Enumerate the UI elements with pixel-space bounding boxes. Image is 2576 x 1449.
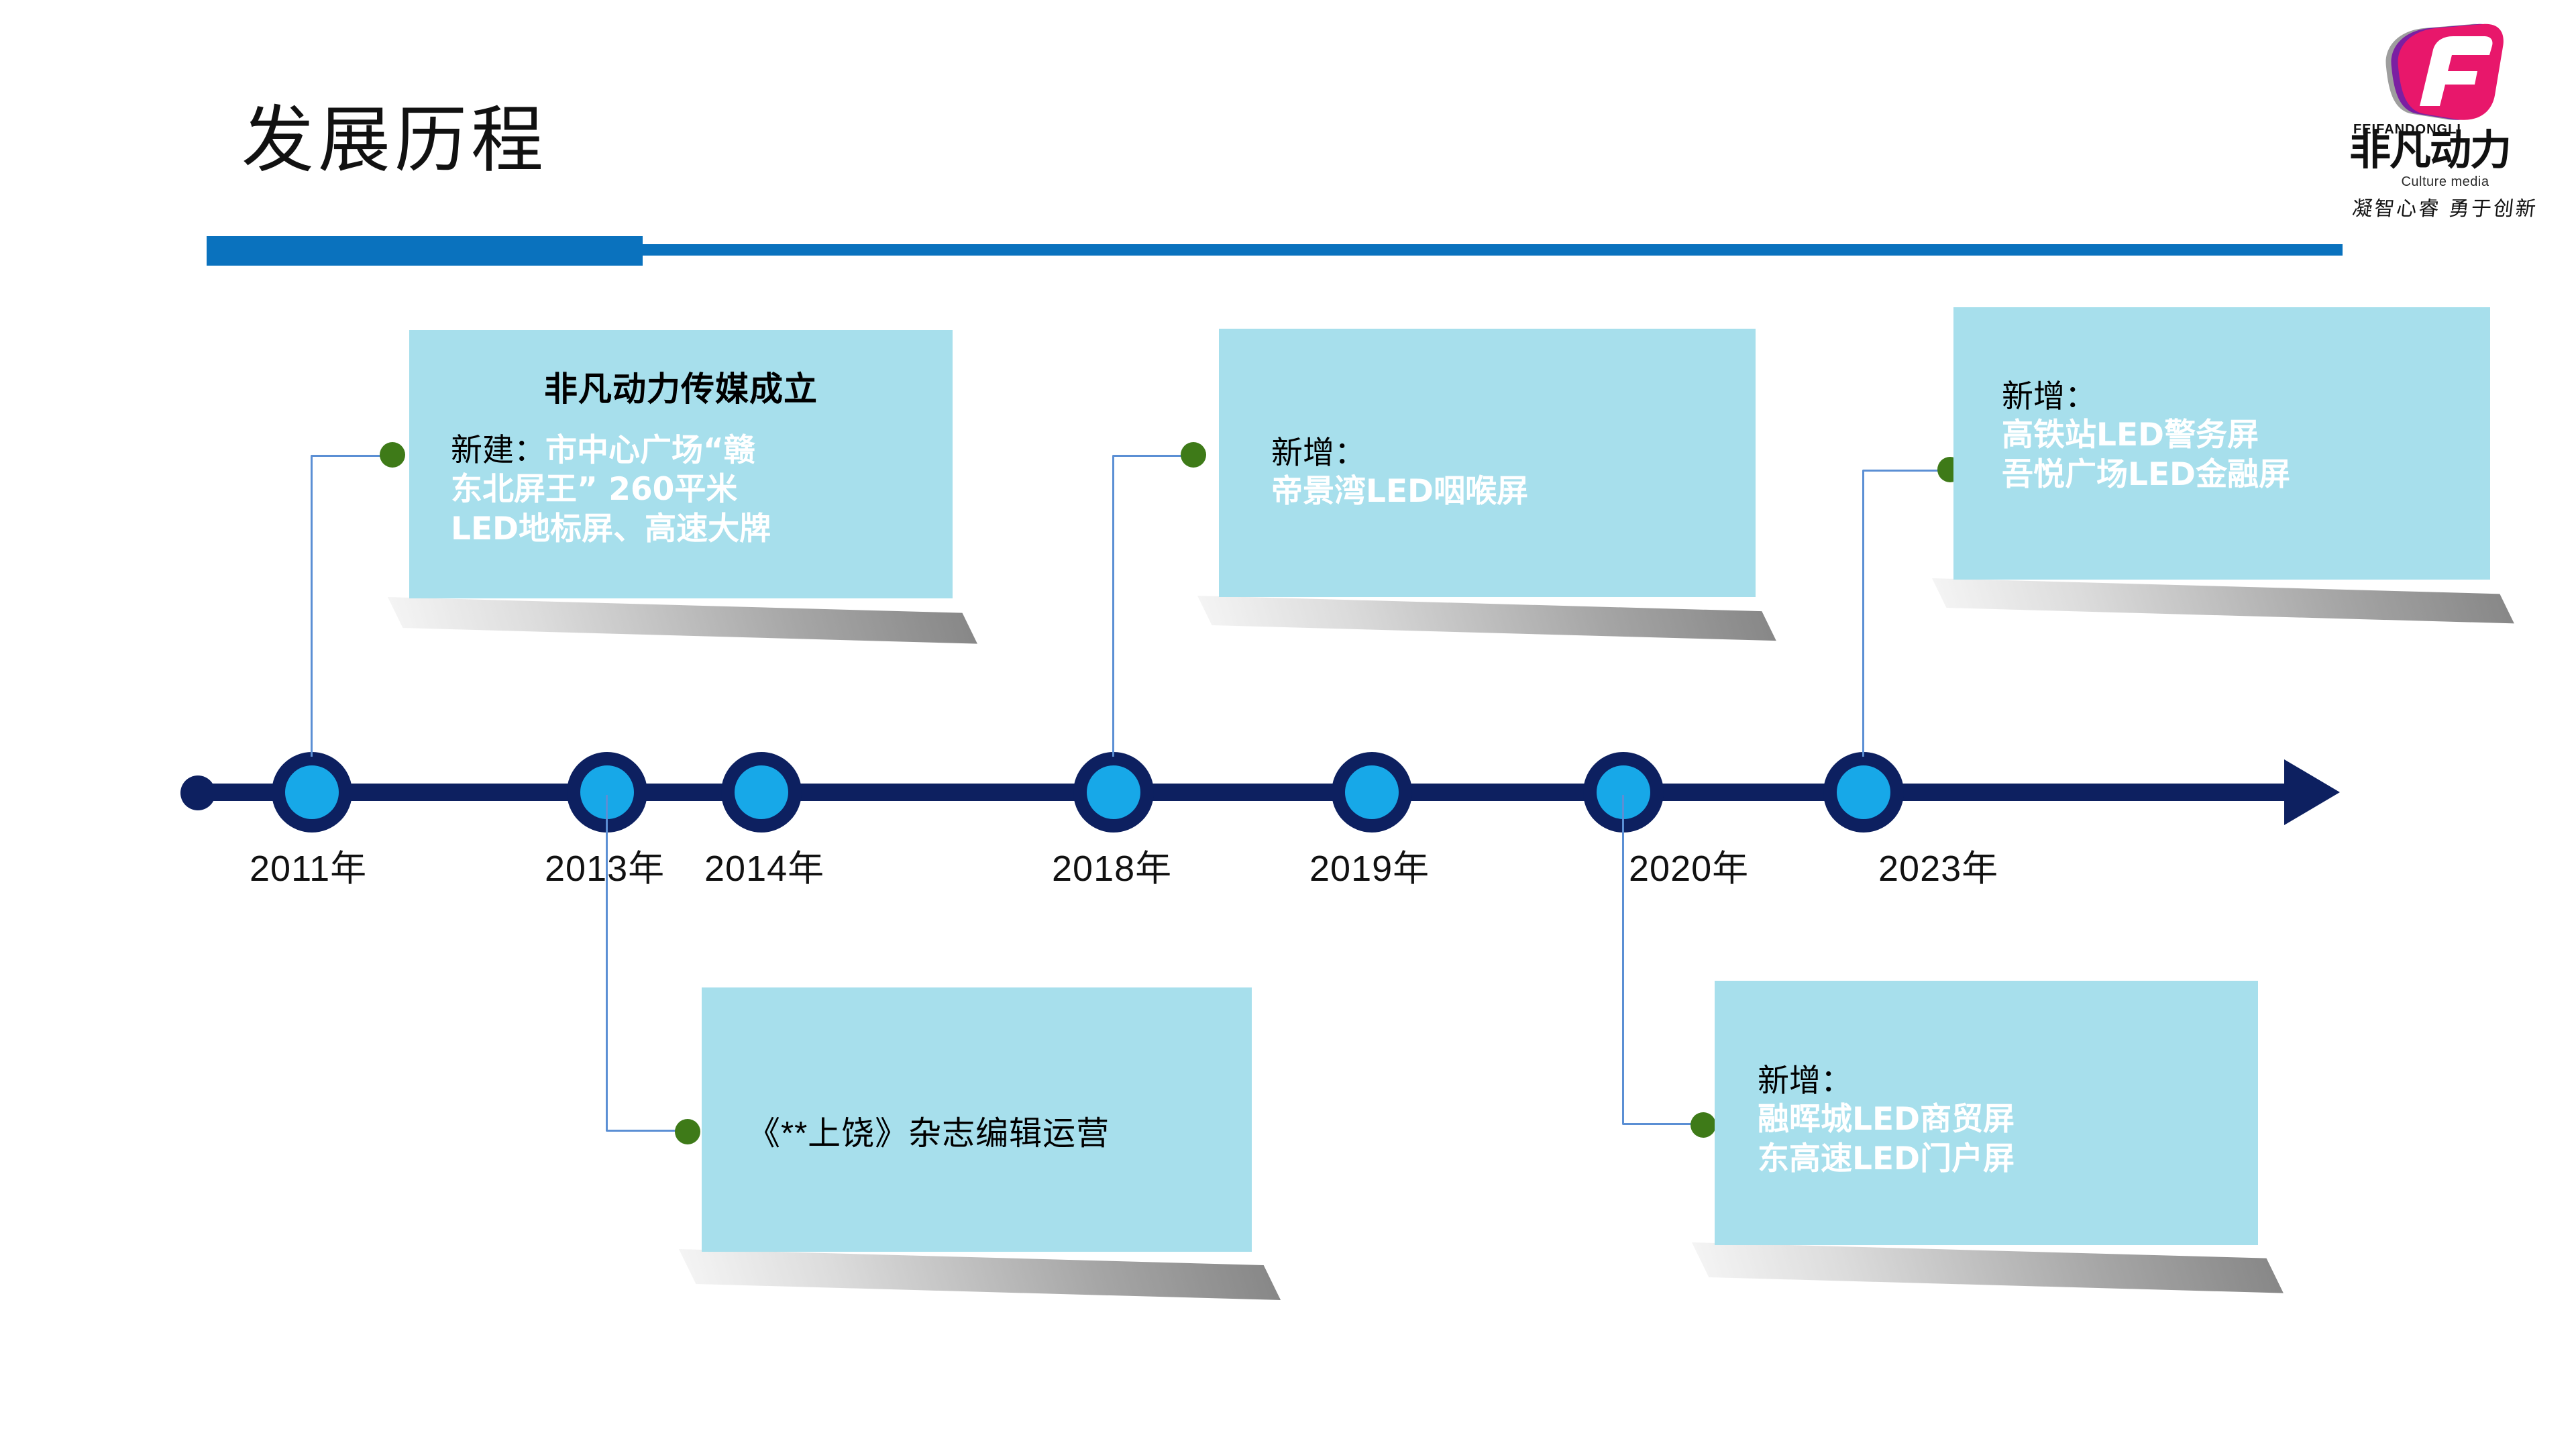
title-underline-thin — [643, 244, 2343, 256]
connector-dot-2011 — [380, 442, 405, 468]
connector-2020 — [1622, 795, 1703, 1125]
timeline-node-2014[interactable] — [721, 752, 802, 833]
connector-dot-2018 — [1181, 442, 1206, 468]
card-2023-label: 新增： — [2002, 378, 2096, 414]
slide-canvas: 发展历程 FEIFANDONGLI 非凡动力 Culture media 凝智心… — [0, 0, 2576, 1449]
card-2013-line-1: 《**上饶》杂志编辑运营 — [747, 1116, 1110, 1152]
card-2013[interactable]: 《**上饶》杂志编辑运营 — [702, 987, 1252, 1252]
connector-2023 — [1862, 470, 1949, 757]
year-label-2018: 2018年 — [1052, 839, 1172, 892]
card-2011-line-1: 市中心广场“赣 — [545, 432, 755, 469]
card-2018[interactable]: 新增： 帝景湾LED咽喉屏 — [1219, 329, 1756, 597]
card-2018-label: 新增： — [1271, 435, 1366, 470]
connector-2011 — [311, 455, 391, 757]
timeline-arrow-icon — [2284, 759, 2340, 825]
year-label-2023: 2023年 — [1878, 839, 1998, 892]
card-shadow-2020 — [1692, 1242, 2284, 1293]
card-shadow-2013 — [679, 1249, 1281, 1300]
card-2020-line-2: 东高速LED门户屏 — [1758, 1140, 2015, 1177]
title-underline-thick — [207, 236, 643, 266]
timeline-node-2023[interactable] — [1823, 752, 1904, 833]
card-2011-label: 新建： — [451, 432, 545, 468]
connector-dot-2013 — [675, 1119, 700, 1144]
card-2023[interactable]: 新增： 高铁站LED警务屏 吾悦广场LED金融屏 — [1953, 307, 2490, 580]
company-logo: FEIFANDONGLI 非凡动力 Culture media 凝智心睿 勇于创… — [2334, 20, 2556, 221]
logo-tagline: 凝智心睿 勇于创新 — [2333, 192, 2558, 221]
timeline-axis — [184, 784, 2308, 801]
card-shadow-2011 — [388, 597, 977, 644]
card-2011-line-3: LED地标屏、高速大牌 — [451, 511, 771, 547]
card-2020[interactable]: 新增： 融晖城LED商贸屏 东高速LED门户屏 — [1715, 981, 2258, 1245]
page-title: 发展历程 — [241, 101, 547, 180]
card-2023-line-1: 高铁站LED警务屏 — [2002, 417, 2259, 453]
year-label-2019: 2019年 — [1309, 839, 1430, 892]
card-2020-line-1: 融晖城LED商贸屏 — [1758, 1101, 2015, 1138]
card-2023-line-2: 吾悦广场LED金融屏 — [2002, 456, 2290, 493]
connector-dot-2020 — [1690, 1112, 1716, 1138]
logo-name-cn: 非凡动力 — [2349, 129, 2510, 171]
card-shadow-2018 — [1197, 596, 1776, 641]
card-2020-label: 新增： — [1758, 1063, 1852, 1098]
logo-subtitle-en: Culture media — [2334, 174, 2556, 190]
timeline-node-2019[interactable] — [1332, 752, 1412, 833]
card-shadow-2023 — [1932, 578, 2514, 623]
connector-2018 — [1112, 455, 1193, 757]
year-label-2014: 2014年 — [704, 839, 824, 892]
timeline-node-2011[interactable] — [272, 752, 352, 833]
connector-2013 — [606, 795, 686, 1132]
card-2011-heading: 非凡动力传媒成立 — [409, 362, 953, 411]
logo-f-mark-icon — [2371, 20, 2506, 124]
card-2011[interactable]: 非凡动力传媒成立 新建：市中心广场“赣 东北屏王” 260平米 LED地标屏、高… — [409, 330, 953, 598]
year-label-2011: 2011年 — [250, 839, 367, 892]
card-2011-line-2: 东北屏王” 260平米 — [451, 471, 737, 508]
timeline-node-2018[interactable] — [1073, 752, 1154, 833]
card-2018-line-1: 帝景湾LED咽喉屏 — [1271, 473, 1528, 510]
